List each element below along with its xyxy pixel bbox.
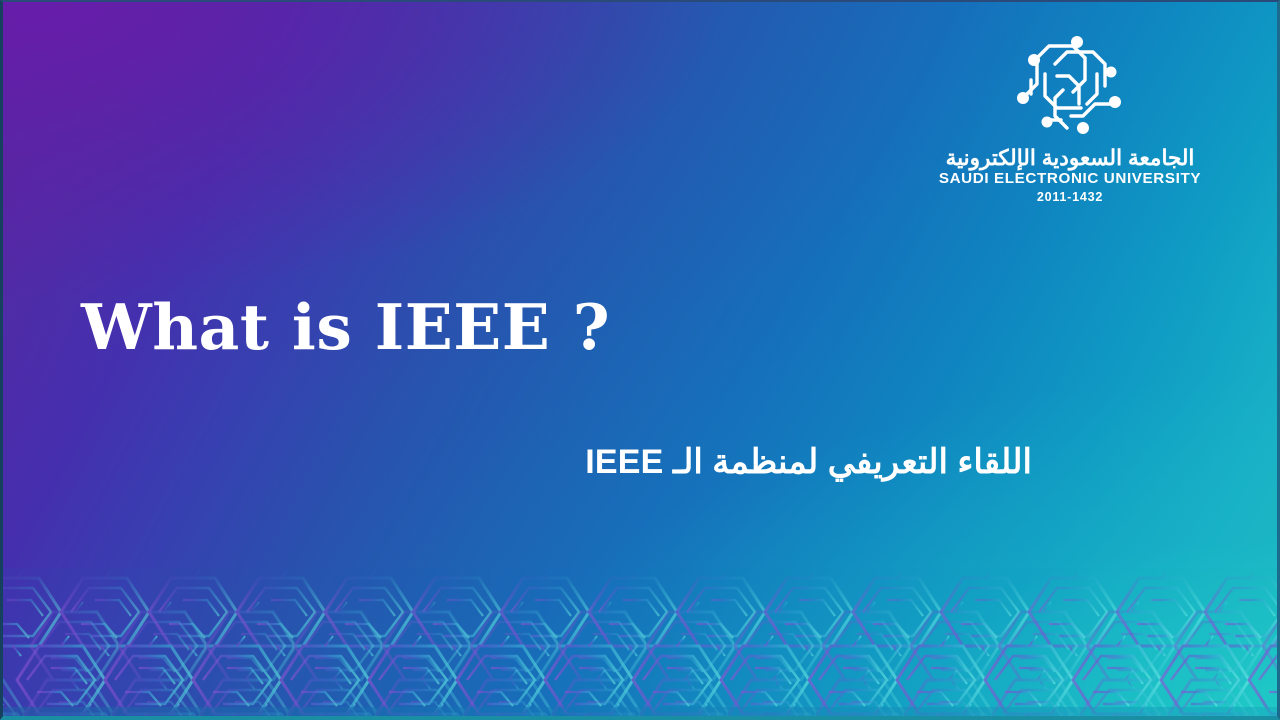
circuit-trace-pattern-icon xyxy=(3,568,1277,716)
hexagon-circuit-icon xyxy=(1011,28,1129,140)
logo-name-arabic: الجامعة السعودية الإلكترونية xyxy=(925,146,1215,170)
logo-founding-years: 2011-1432 xyxy=(925,191,1215,205)
slide-bottom-strip xyxy=(3,707,1277,716)
slide-subtitle-arabic: اللقاء التعريفي لمنظمة الـ IEEE xyxy=(585,440,1032,484)
slide-title: What is IEEE ? xyxy=(81,294,610,360)
presentation-slide: الجامعة السعودية الإلكترونية SAUDI ELECT… xyxy=(0,0,1280,720)
university-logo: الجامعة السعودية الإلكترونية SAUDI ELECT… xyxy=(925,28,1215,205)
logo-name-english: SAUDI ELECTRONIC UNIVERSITY xyxy=(925,171,1215,188)
